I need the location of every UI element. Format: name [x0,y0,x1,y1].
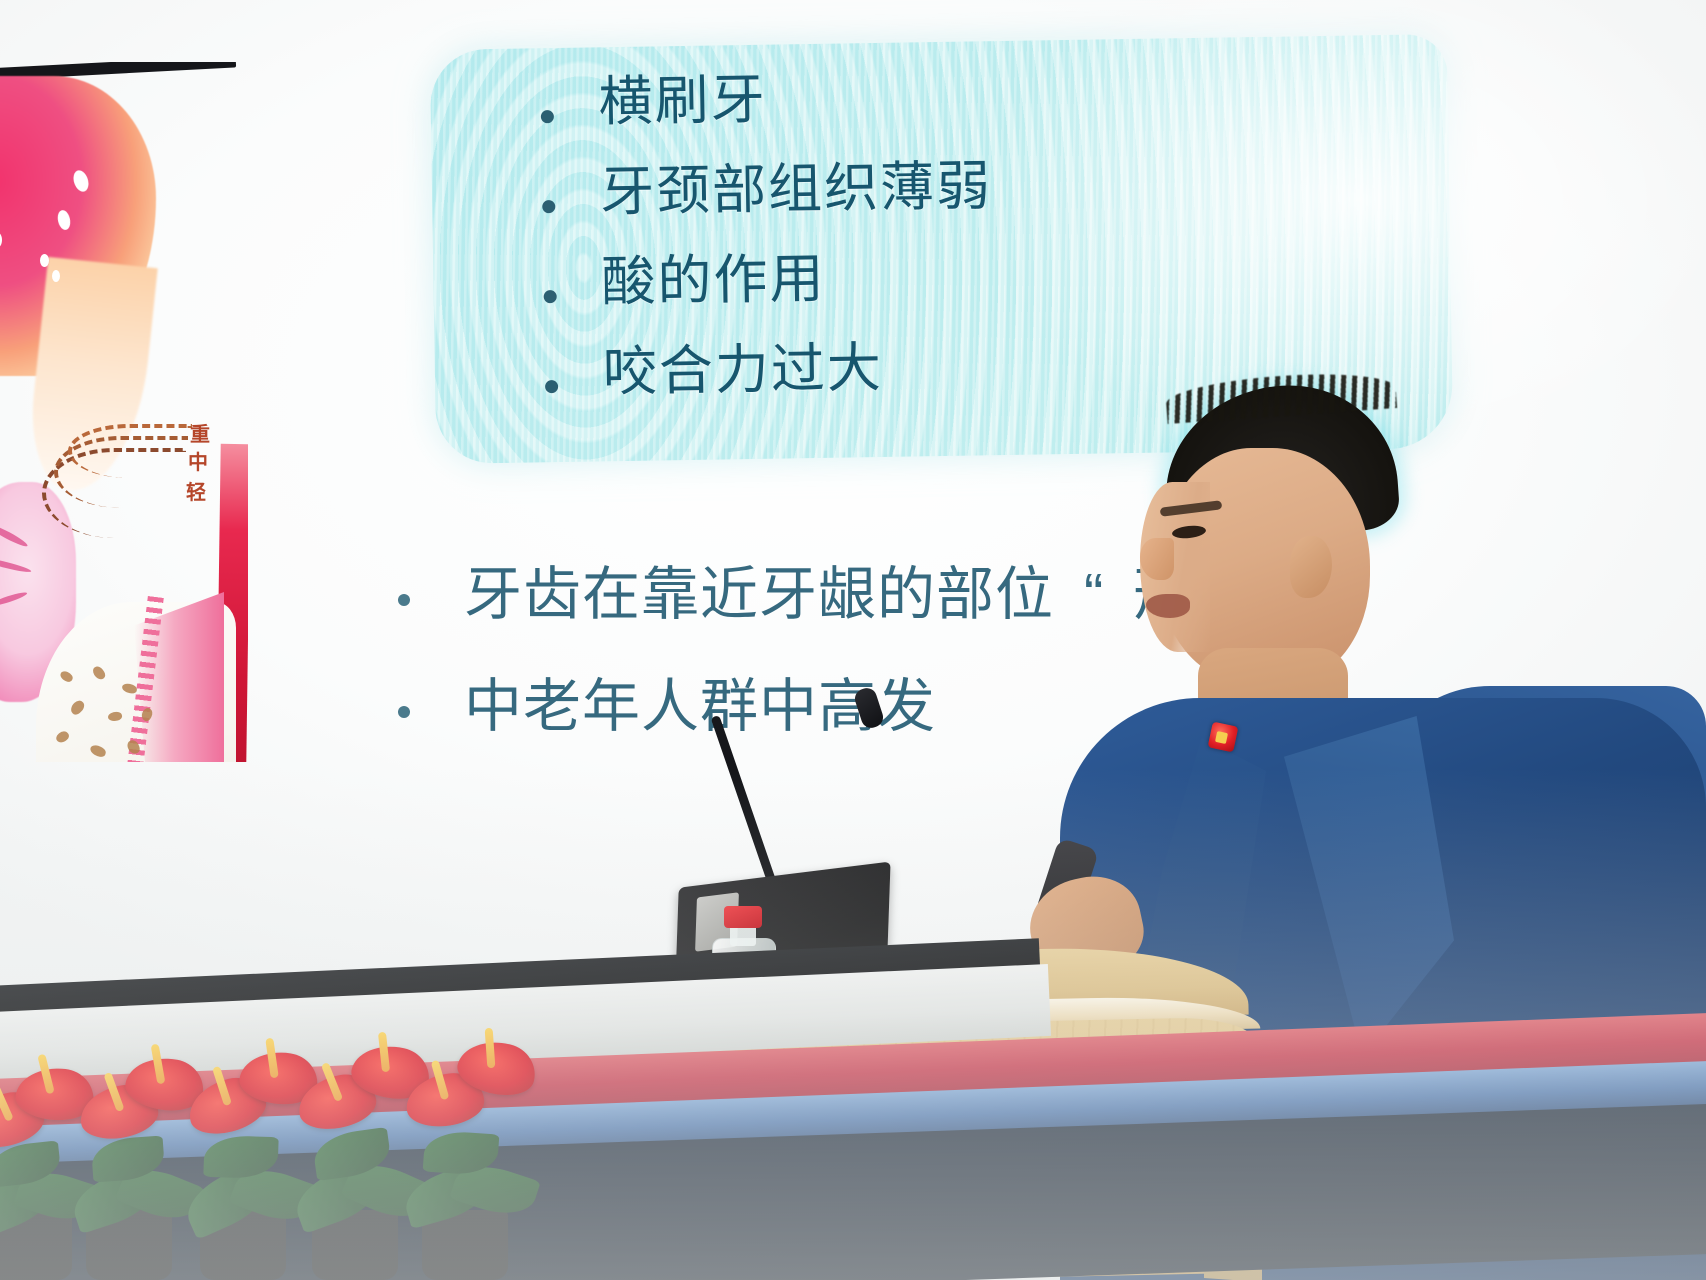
decorative-flower-row [0,880,580,1280]
highlight-dot [52,270,60,282]
bone-speckle-group [42,662,192,762]
slide-bullet-item: 酸的作用 [529,242,1421,310]
speaker-nose [1140,538,1174,580]
water-bottle-cap [724,906,762,928]
slide-bullet-item: 横刷牙 [526,63,1418,131]
screenshot-root: 横刷牙 牙颈部组织薄弱 酸的作用 咬合力过大 牙齿在靠近牙龈的部位“形的缺 中老… [0,0,1706,1280]
highlight-dot [40,254,49,267]
severity-arc-mild [68,424,192,478]
lower-bullet-text-before-quote: 牙齿在靠近牙龈的部位 [464,562,1054,627]
speaker-mouth [1146,594,1190,618]
severity-label-severe: 重 [190,418,210,447]
severity-label-moderate: 中 [188,446,208,475]
lapel-pin-emblem [1215,731,1228,744]
dental-anatomy-illustration: 重 中 轻 [0,62,248,762]
slide-bullet-item: 牙颈部组织薄弱 [528,152,1420,220]
wedge-defect-severity-arcs: 重 中 轻 [38,422,208,562]
anthurium-spadix [485,1028,496,1068]
severity-label-mild: 轻 [186,476,206,505]
